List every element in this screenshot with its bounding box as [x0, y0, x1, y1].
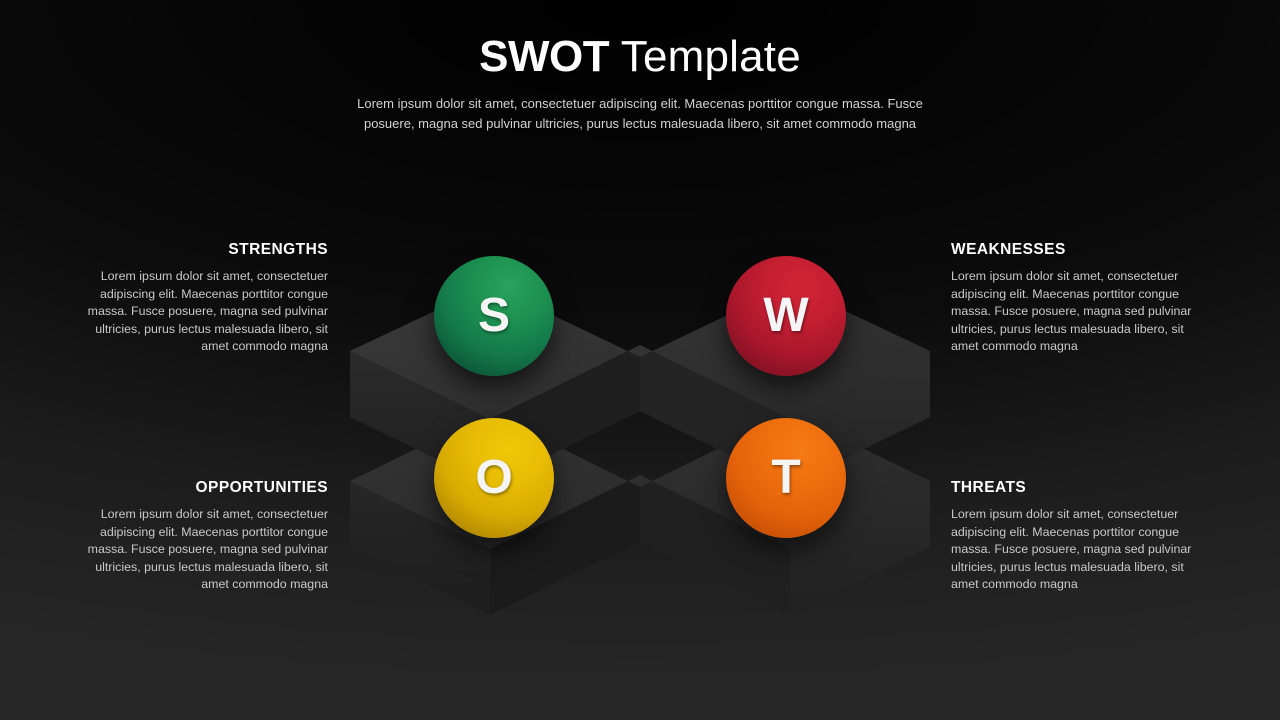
sphere-letter-s: S: [478, 292, 510, 340]
quadrant-heading-weaknesses: WEAKNESSES: [951, 241, 1203, 259]
title-bold-part: SWOT: [479, 32, 609, 81]
swot-sphere-strengths[interactable]: S: [434, 256, 554, 376]
page-header: SWOT Template Lorem ipsum dolor sit amet…: [0, 34, 1280, 134]
title-light-part: Template: [609, 32, 801, 81]
quadrant-heading-opportunities: OPPORTUNITIES: [76, 479, 328, 497]
quadrant-heading-strengths: STRENGTHS: [76, 241, 328, 259]
quadrant-body-strengths: Lorem ipsum dolor sit amet, consectetuer…: [76, 268, 328, 356]
sphere-letter-w: W: [763, 292, 808, 340]
quadrant-body-weaknesses: Lorem ipsum dolor sit amet, consectetuer…: [951, 268, 1203, 356]
page-title: SWOT Template: [0, 34, 1280, 80]
quadrant-block-threats: THREATS Lorem ipsum dolor sit amet, cons…: [951, 479, 1203, 594]
swot-isometric-graphic: [340, 285, 940, 665]
quadrant-block-opportunities: OPPORTUNITIES Lorem ipsum dolor sit amet…: [76, 479, 328, 594]
sphere-letter-o: O: [475, 454, 512, 502]
quadrant-block-weaknesses: WEAKNESSES Lorem ipsum dolor sit amet, c…: [951, 241, 1203, 356]
swot-sphere-threats[interactable]: T: [726, 418, 846, 538]
sphere-letter-t: T: [771, 454, 800, 502]
quadrant-block-strengths: STRENGTHS Lorem ipsum dolor sit amet, co…: [76, 241, 328, 356]
quadrant-body-opportunities: Lorem ipsum dolor sit amet, consectetuer…: [76, 506, 328, 594]
quadrant-body-threats: Lorem ipsum dolor sit amet, consectetuer…: [951, 506, 1203, 594]
quadrant-heading-threats: THREATS: [951, 479, 1203, 497]
page-subtitle: Lorem ipsum dolor sit amet, consectetuer…: [340, 94, 940, 134]
swot-sphere-opportunities[interactable]: O: [434, 418, 554, 538]
swot-sphere-weaknesses[interactable]: W: [726, 256, 846, 376]
isometric-bowtie-stack-svg: [340, 285, 940, 665]
